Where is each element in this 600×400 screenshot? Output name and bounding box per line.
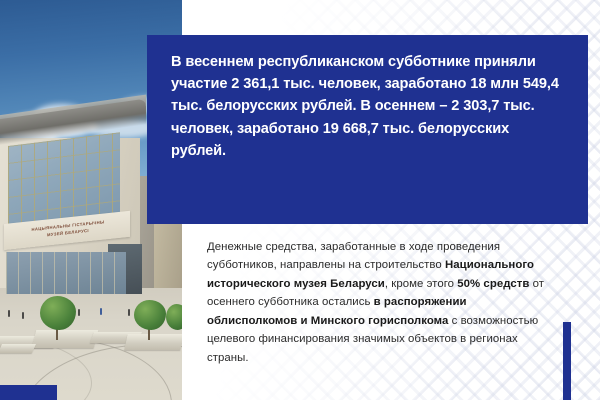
plaza-planter [32,330,98,348]
pedestrian [22,312,24,319]
body-text: , кроме этого [385,278,457,290]
tree [166,304,182,330]
tree [134,300,166,330]
infographic-slide: НАЦЫЯНАЛЬНЫ ГІСТАРЫЧНЫ МУЗЕЙ БЕЛАРУСІ В … [0,0,600,400]
plaza-planter [124,334,182,350]
plaza-planter [0,344,36,353]
pedestrian [78,309,80,316]
building-entrance-glazing [6,252,126,294]
headline-callout: В весеннем республиканском субботнике пр… [147,35,588,224]
pedestrian [128,309,130,316]
accent-bar-bottom-left [0,385,57,400]
accent-bar-right [563,322,571,400]
pedestrian [100,308,102,315]
tree [40,296,76,330]
body-paragraph: Денежные средства, заработанные в ходе п… [207,238,559,367]
body-emphasis: 50% средств [457,278,529,290]
headline-callout-text: В весеннем республиканском субботнике пр… [171,51,566,162]
pedestrian [8,310,10,317]
